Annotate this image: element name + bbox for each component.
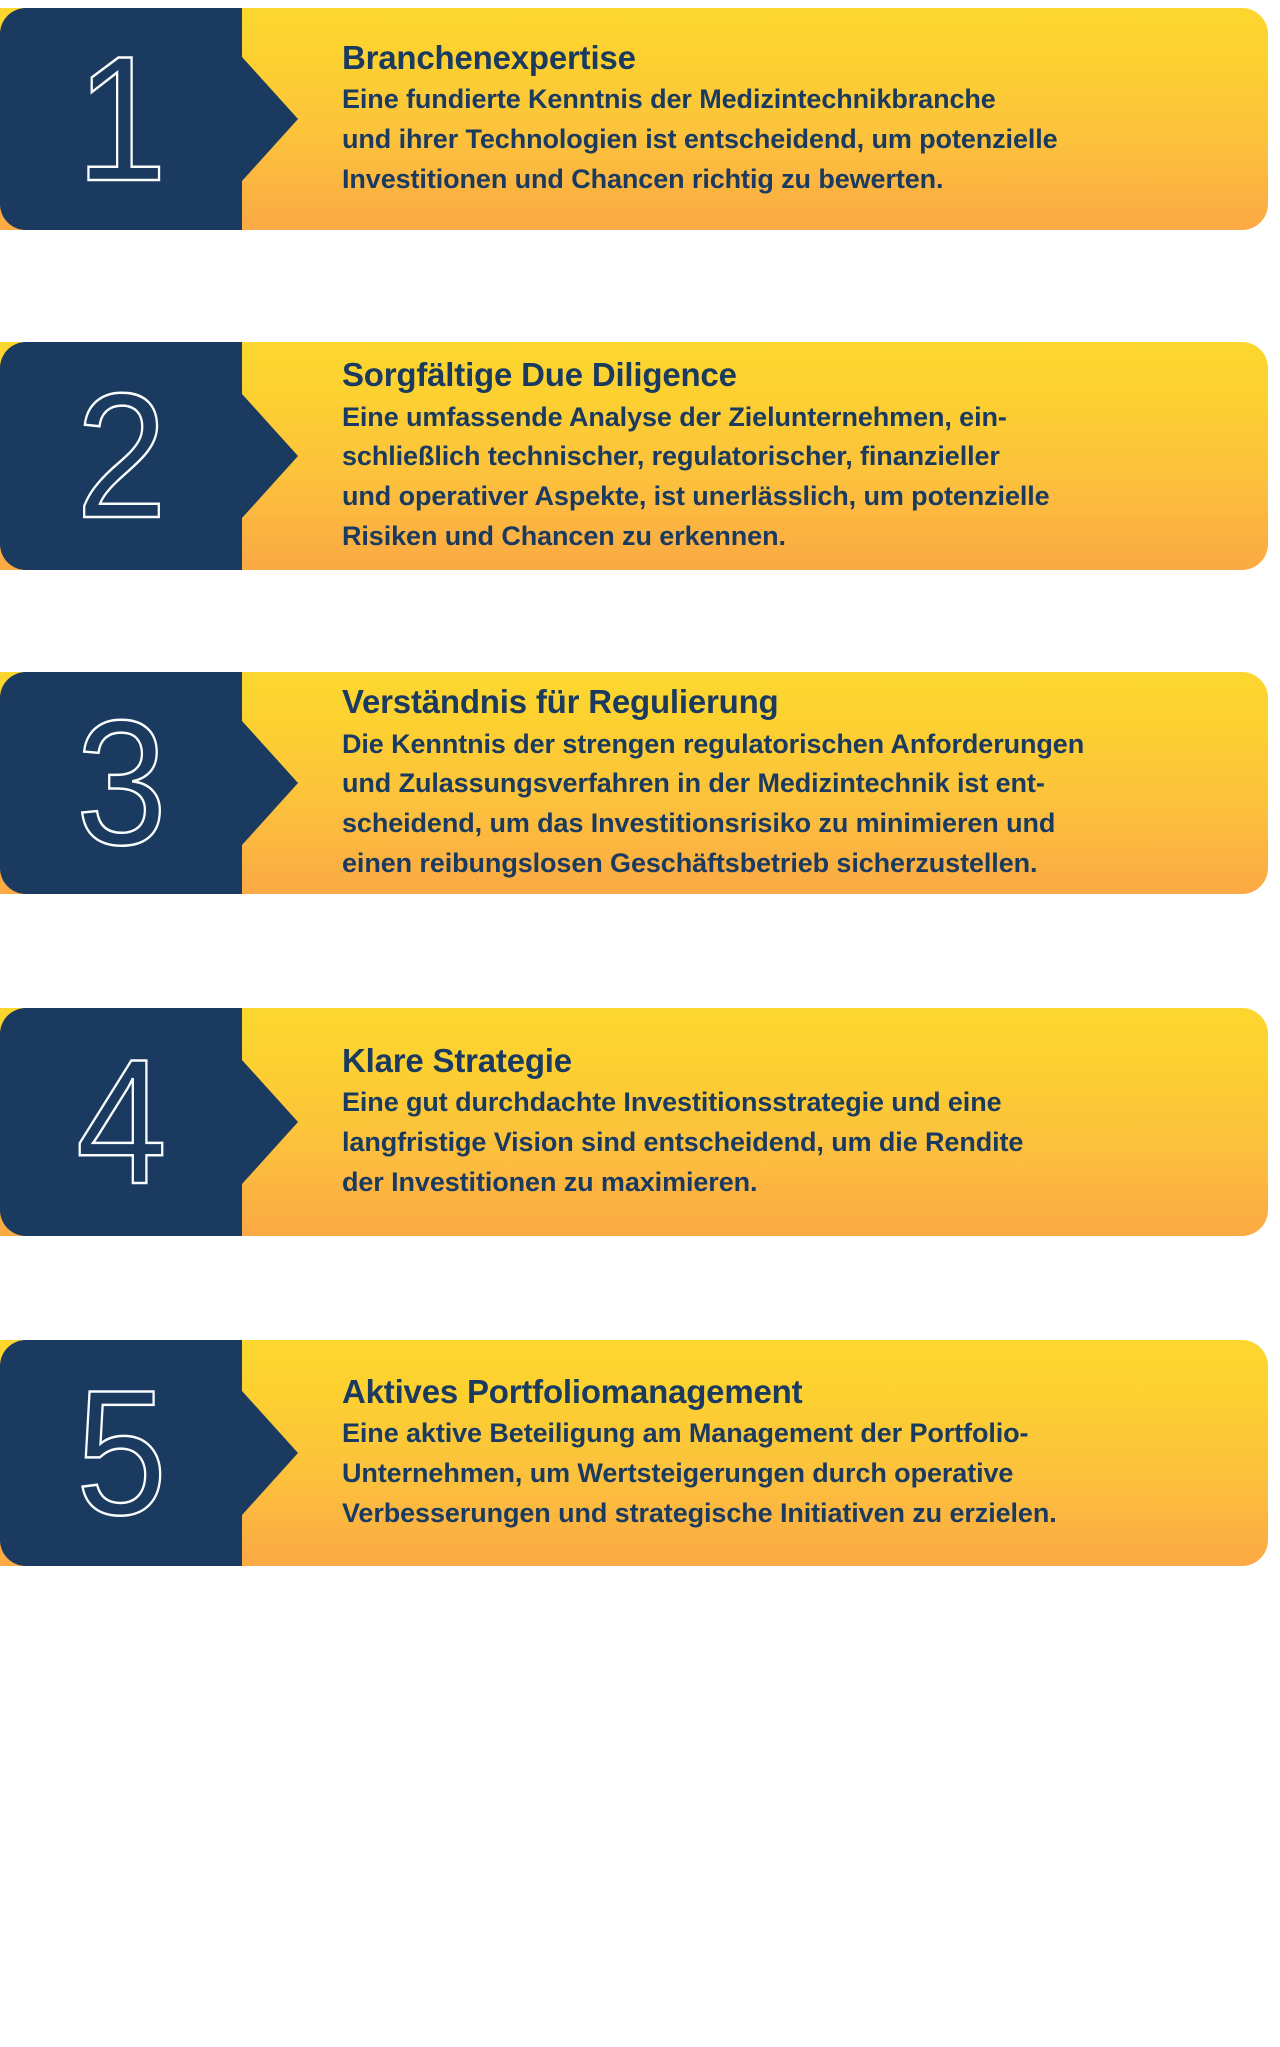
card-content: Branchenexpertise Eine fundierte Kenntni… <box>342 8 1242 230</box>
card-description: Eine aktive Beteiligung am Management de… <box>342 1414 1226 1533</box>
step-card-3: 3 Verständnis für Regulierung Die Kenntn… <box>0 672 1268 894</box>
card-content: Verständnis für Regulierung Die Kenntnis… <box>342 672 1242 894</box>
card-description: Eine fundierte Kenntnis der Medizintechn… <box>342 80 1226 199</box>
step-number: 3 <box>0 672 242 894</box>
card-title: Aktives Portfoliomanagement <box>342 1373 1226 1412</box>
card-content: Aktives Portfoliomanagement Eine aktive … <box>342 1340 1242 1566</box>
card-description: Eine gut durchdachte Investitionsstrateg… <box>342 1083 1226 1202</box>
step-card-1: 1 Branchenexpertise Eine fundierte Kennt… <box>0 8 1268 230</box>
step-card-2: 2 Sorgfältige Due Diligence Eine umfasse… <box>0 342 1268 570</box>
arrow-pointer-icon <box>242 57 298 181</box>
step-number: 2 <box>0 342 242 570</box>
card-title: Klare Strategie <box>342 1042 1226 1081</box>
card-title: Sorgfältige Due Diligence <box>342 356 1226 395</box>
card-content: Klare Strategie Eine gut durchdachte Inv… <box>342 1008 1242 1236</box>
card-description: Eine umfassende Analyse der Zielunterneh… <box>342 398 1226 557</box>
card-title: Verständnis für Regulierung <box>342 683 1226 722</box>
step-card-4: 4 Klare Strategie Eine gut durchdachte I… <box>0 1008 1268 1236</box>
arrow-pointer-icon <box>242 721 298 845</box>
arrow-pointer-icon <box>242 394 298 518</box>
card-title: Branchenexpertise <box>342 39 1226 78</box>
step-card-5: 5 Aktives Portfoliomanagement Eine aktiv… <box>0 1340 1268 1566</box>
step-number: 5 <box>0 1340 242 1566</box>
infographic-container: 1 Branchenexpertise Eine fundierte Kennt… <box>0 0 1280 2047</box>
step-number: 1 <box>0 8 242 230</box>
card-description: Die Kenntnis der strengen regulatorische… <box>342 725 1226 884</box>
arrow-pointer-icon <box>242 1060 298 1184</box>
card-content: Sorgfältige Due Diligence Eine umfassend… <box>342 342 1242 570</box>
step-number: 4 <box>0 1008 242 1236</box>
arrow-pointer-icon <box>242 1391 298 1515</box>
